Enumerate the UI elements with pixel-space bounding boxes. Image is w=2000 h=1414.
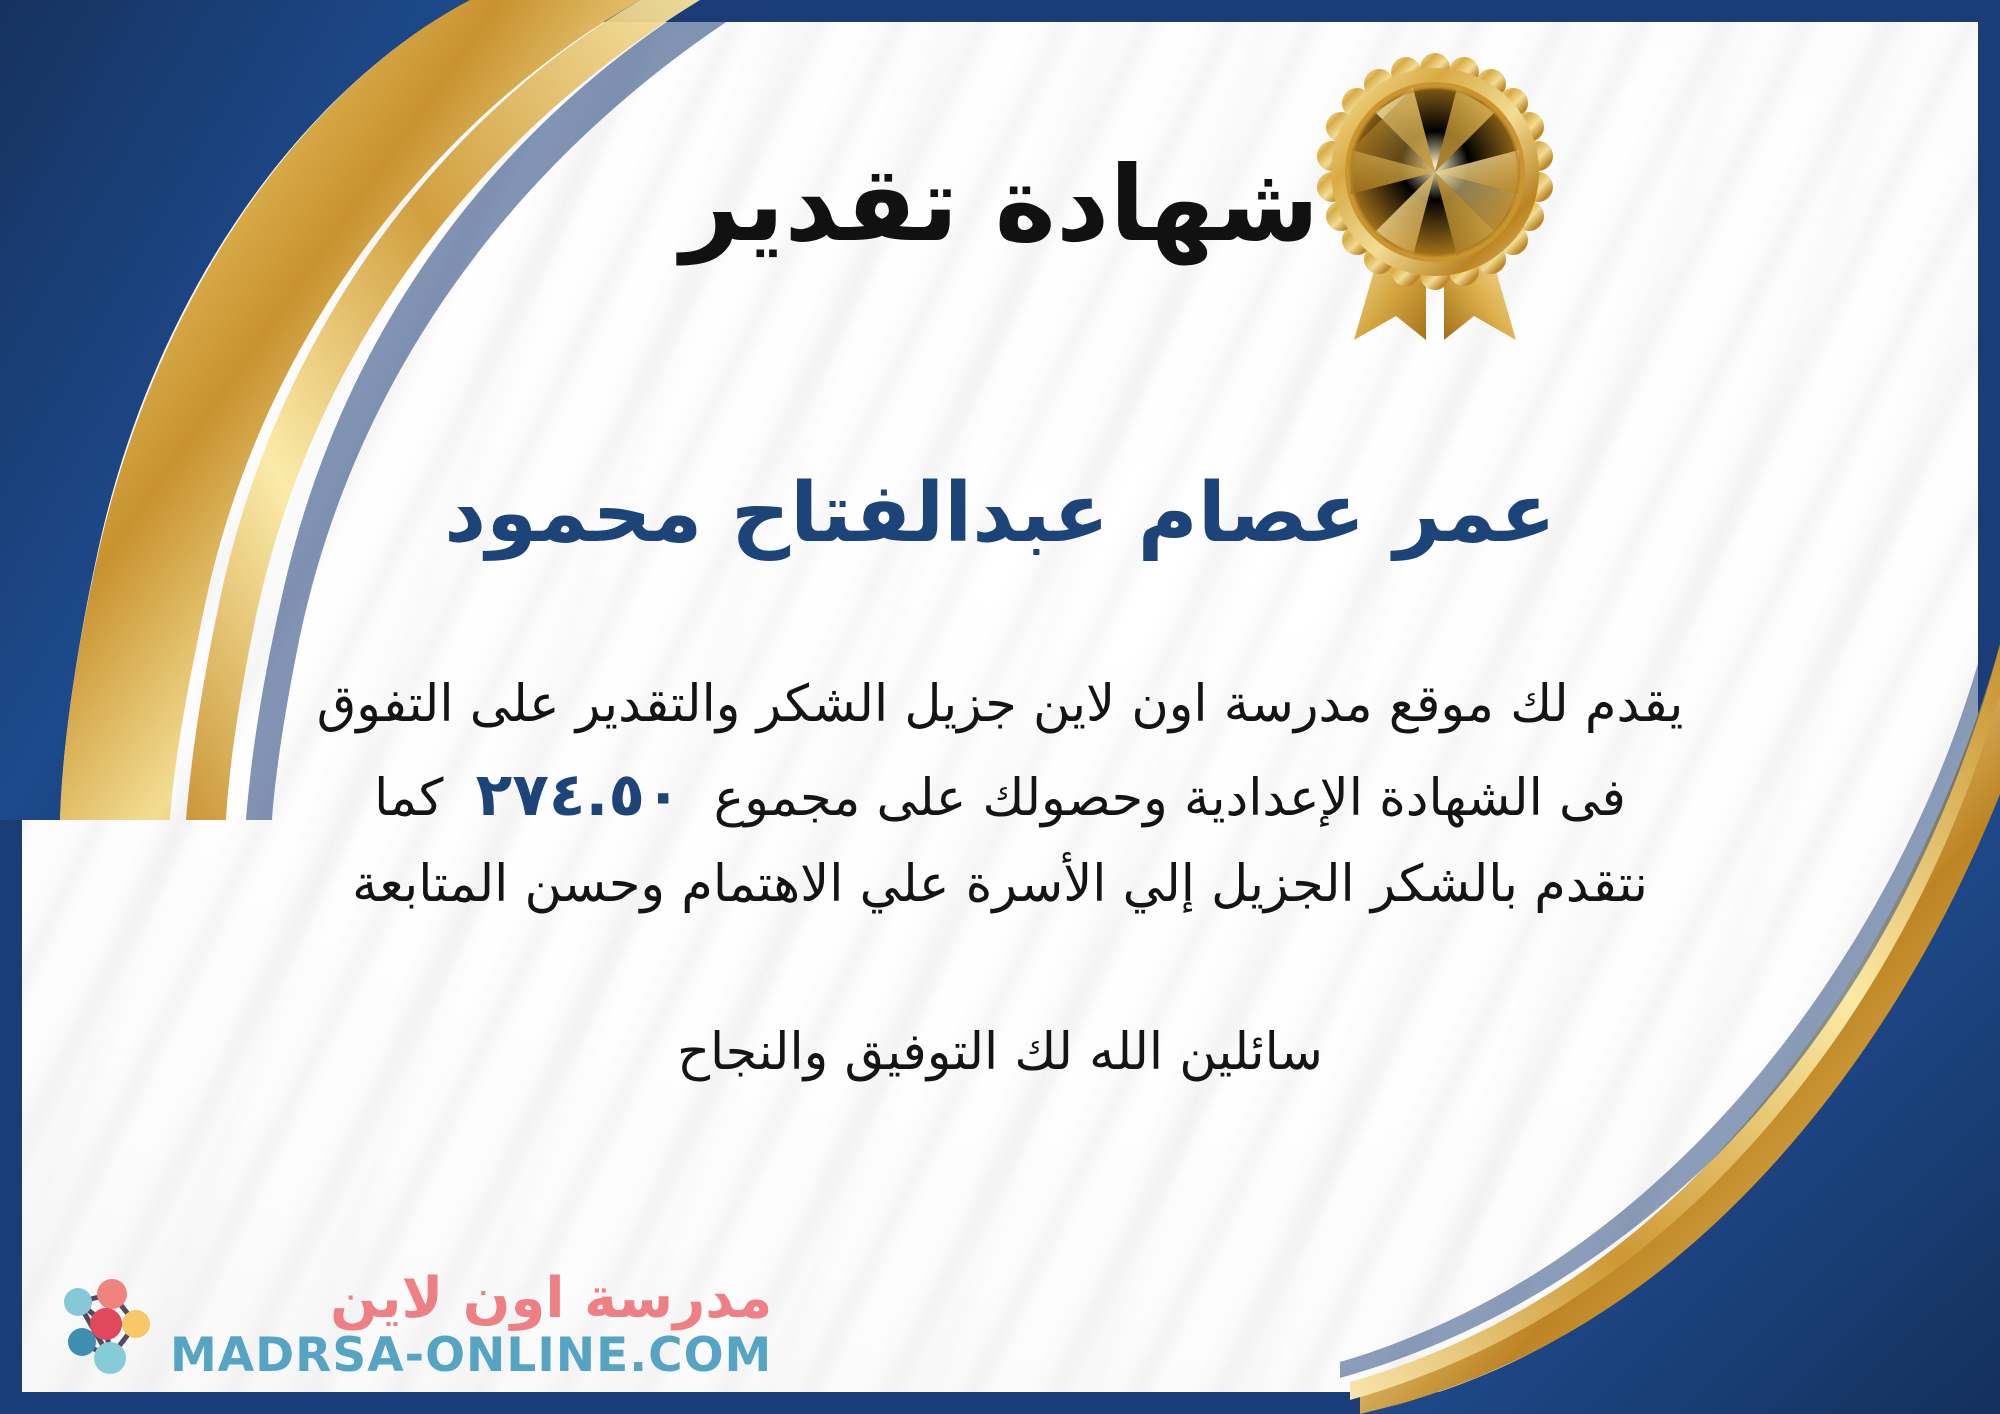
brand-text-block: مدرسة اون لاين MADRSA-ONLINE.COM (170, 1271, 772, 1380)
closing-line: سائلين الله لك التوفيق والنجاح (677, 1023, 1323, 1082)
certificate-page: شهادة تقدير عمر عصام عبدالفتاح محمود يقد… (0, 0, 2000, 1414)
network-nodes-icon (40, 1266, 160, 1386)
page-title: شهادة تقدير (681, 150, 1320, 259)
brand-logo[interactable]: مدرسة اون لاين MADRSA-ONLINE.COM (40, 1266, 772, 1386)
body-line-2-prefix: فى الشهادة الإعدادية وحصولك على مجموع (714, 769, 1626, 828)
body-line-1: يقدم لك موقع مدرسة اون لاين جزيل الشكر و… (100, 664, 1900, 747)
body-line-3: نتقدم بالشكر الجزيل إلي الأسرة علي الاهت… (100, 844, 1900, 927)
brand-arabic-name: مدرسة اون لاين (330, 1271, 772, 1327)
certificate-body: يقدم لك موقع مدرسة اون لاين جزيل الشكر و… (100, 664, 1900, 926)
certificate-content: شهادة تقدير عمر عصام عبدالفتاح محمود يقد… (0, 0, 2000, 1414)
recipient-name: عمر عصام عبدالفتاح محمود (444, 469, 1556, 559)
body-line-2-suffix: كما (374, 769, 443, 828)
grade-total-value: ٢٧٤.٥٠ (460, 760, 698, 830)
brand-website: MADRSA-ONLINE.COM (170, 1331, 772, 1380)
body-line-2: فى الشهادة الإعدادية وحصولك على مجموع ٢٧… (100, 747, 1900, 844)
